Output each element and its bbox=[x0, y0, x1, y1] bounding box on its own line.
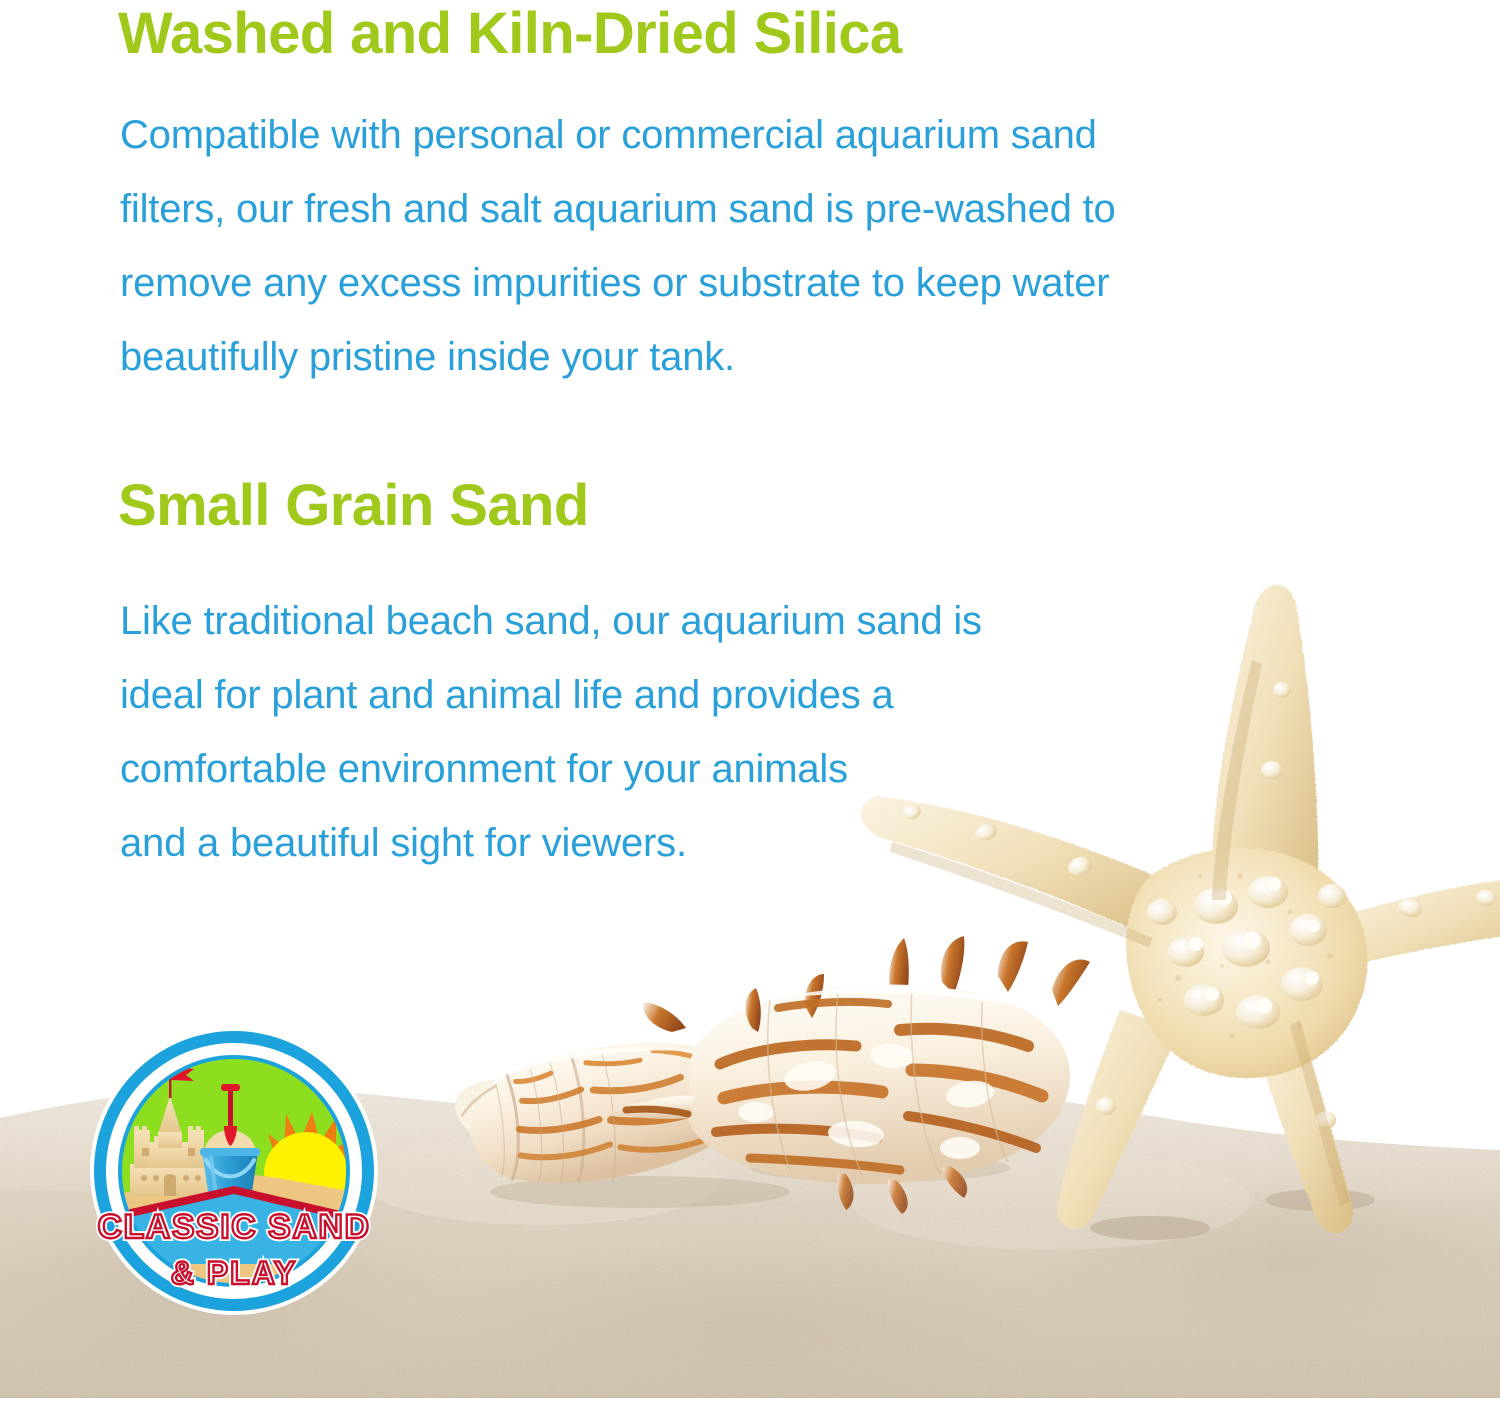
section-heading-small-grain-sand: Small Grain Sand bbox=[118, 476, 589, 537]
body-line: and a beautiful sight for viewers. bbox=[120, 806, 1180, 880]
shell-spikes bbox=[643, 936, 1090, 1080]
body-line: Like traditional beach sand, our aquariu… bbox=[120, 584, 1180, 658]
logo-line1: CLASSIC SAND bbox=[97, 1208, 370, 1246]
body-line: Compatible with personal or commercial a… bbox=[120, 98, 1350, 172]
body-line: comfortable environment for your animals bbox=[120, 732, 1180, 806]
cone-shell bbox=[450, 1029, 761, 1200]
logo-svg: CLASSIC SAND CLASSIC SAND & PLAY & PLAY bbox=[78, 1026, 390, 1316]
section-body-small-grain-sand: Like traditional beach sand, our aquariu… bbox=[120, 584, 1180, 880]
product-feature-page: Washed and Kiln-Dried Silica Compatible … bbox=[0, 0, 1500, 1398]
body-line: filters, our fresh and salt aquarium san… bbox=[120, 172, 1350, 246]
body-line: ideal for plant and animal life and prov… bbox=[120, 658, 1180, 732]
murex-conch-shell bbox=[608, 936, 1090, 1214]
section-body-washed-kiln-dried-silica: Compatible with personal or commercial a… bbox=[120, 98, 1350, 394]
section-heading-washed-kiln-dried-silica: Washed and Kiln-Dried Silica bbox=[118, 4, 902, 65]
body-line: beautifully pristine inside your tank. bbox=[120, 320, 1350, 394]
logo-line2: & PLAY bbox=[171, 1255, 297, 1291]
body-line: remove any excess impurities or substrat… bbox=[120, 246, 1350, 320]
classic-sand-and-play-logo: CLASSIC SAND CLASSIC SAND & PLAY & PLAY bbox=[78, 1026, 390, 1316]
